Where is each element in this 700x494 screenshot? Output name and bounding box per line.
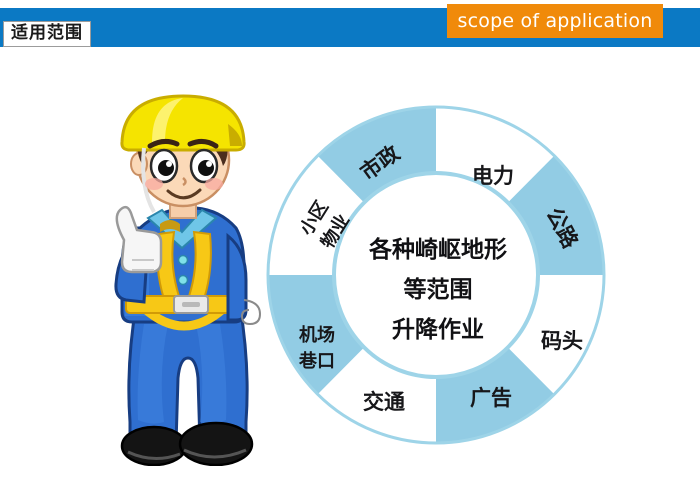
pupil-right	[198, 160, 214, 176]
center-text-line-2: 等范围	[404, 276, 473, 303]
header-english-title-badge: scope of application	[447, 4, 663, 38]
center-text-line-3: 升降作业	[392, 317, 484, 343]
boot-right	[180, 423, 252, 465]
worker-illustration	[88, 84, 278, 466]
donut-diagram: 电力 公路 码头 广告 交通 机场巷口 小区物业 市政 各种崎岖地形 等范围 升…	[262, 98, 610, 452]
cheek-left	[145, 178, 163, 190]
header-chinese-title-box: 适用范围	[3, 21, 91, 47]
center-text-line-1: 各种崎岖地形	[368, 236, 507, 263]
eye-glint-right	[206, 161, 212, 167]
pupil-left	[158, 160, 174, 176]
segment-label-jiaotong: 交通	[363, 390, 405, 414]
cheek-right	[205, 178, 223, 190]
segment-label-matou: 码头	[541, 329, 583, 353]
segment-label-guanggao: 广告	[470, 386, 512, 410]
jacket-button-1	[179, 256, 188, 265]
donut-svg: 电力 公路 码头 广告 交通 机场巷口 小区物业 市政 各种崎岖地形 等范围 升…	[262, 98, 610, 452]
page-subtitle: scope of application	[458, 10, 653, 32]
jacket-button-2	[179, 276, 188, 285]
hard-hat	[122, 96, 244, 150]
belt-buckle-slot	[182, 302, 200, 307]
eye-glint-left	[166, 161, 172, 167]
page-root: 适用范围 scope of application	[0, 0, 700, 494]
segment-label-dianli: 电力	[472, 164, 514, 188]
page-title: 适用范围	[11, 25, 83, 42]
donut-segments	[262, 99, 610, 451]
